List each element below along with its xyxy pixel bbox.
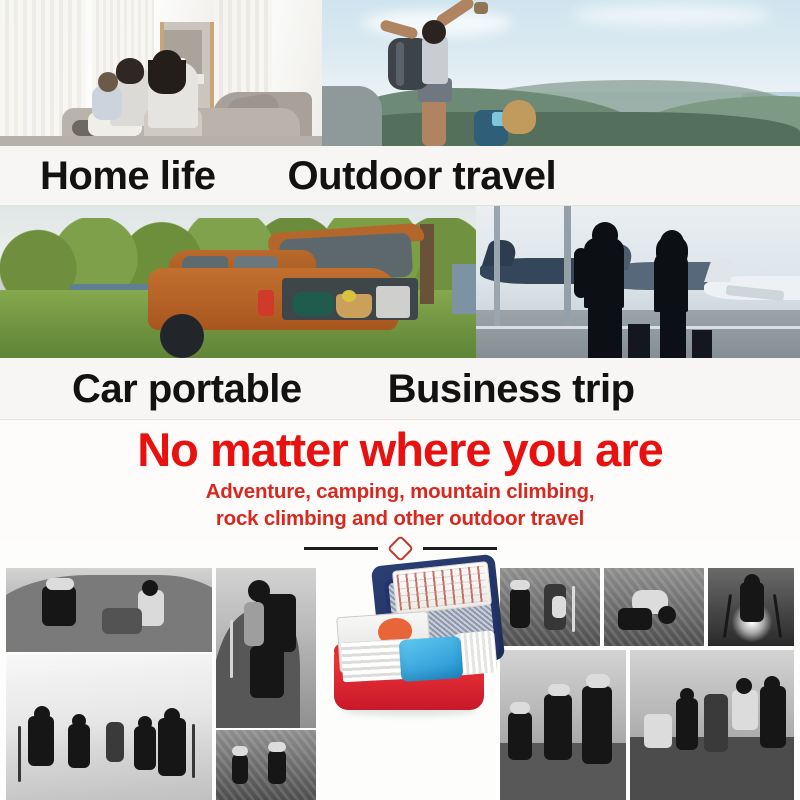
slogan-section: No matter where you are Adventure, campi… [0,420,800,540]
hiker-hand [474,2,488,14]
ski-pole [18,726,21,782]
hiker-standing [760,686,786,748]
businessman-head [592,222,618,248]
slogan-headline: No matter where you are [0,426,800,473]
collage-tile-trekkers-in-brush [216,730,316,800]
collage-tile-hiker-silhouette-summit [708,568,794,646]
hiker-head [764,676,780,692]
product-infographic-page: Home life Outdoor travel [0,0,800,800]
window-mullion [564,206,571,326]
section-divider [0,538,800,558]
climber [544,694,572,760]
category-label-car-portable: Car portable [72,369,302,409]
collage-tile-climbers-on-rock-face [6,568,212,652]
cloud [572,4,772,26]
kit-blue-case [399,636,464,682]
collage-tile-hikers-descending-trail [500,568,600,646]
trekker [268,750,286,784]
photo-car-portable [0,206,476,358]
climber-helmet [510,702,530,714]
skier-head [138,716,152,730]
hiker-head [736,678,752,694]
skier-body [106,722,124,762]
rock-outcrop [322,86,382,146]
climber [582,686,612,764]
hiker-seated [644,714,672,748]
father-head [116,58,144,84]
category-label-outdoor-travel: Outdoor travel [288,156,557,196]
photo-home-life [0,0,322,146]
green-bag [292,292,334,316]
climber-helmet [46,578,74,590]
trekker [232,754,248,784]
window-mullion [494,206,500,326]
hiker-head [422,20,446,44]
child-head [98,72,118,92]
rolling-suitcase [692,330,712,358]
collage-tile-roped-climbing-team-ridge [500,650,626,800]
lifestyle-row-1 [0,0,800,146]
trekker-hat [232,746,248,756]
hiker [510,588,530,628]
rear-wheel [160,314,204,358]
climber-helmet [586,674,610,688]
businesswoman-legs [660,306,686,358]
slogan-subtext: Adventure, camping, mountain climbing, r… [0,478,800,533]
collage-tile-ski-mountaineers-snow-slope [6,654,212,800]
cooler-box [376,286,410,318]
category-label-band-1: Home life Outdoor travel [0,146,800,206]
backpack-strap [396,42,404,86]
hiker-white-shirt [732,690,758,730]
hiker-torso [244,602,264,646]
gear-pack [102,608,142,634]
photo-business-trip [476,206,800,358]
climber-body [42,586,76,626]
category-label-home-life: Home life [40,156,216,196]
slogan-subtext-line-2: rock climbing and other outdoor travel [0,505,800,532]
skier-body [158,718,186,776]
category-label-band-2: Car portable Business trip [0,358,800,420]
climber-legs [618,608,652,630]
background-vehicle [452,264,476,314]
trekking-pole [230,620,233,678]
skier-body [68,724,90,768]
hiker-head [248,580,270,602]
lifestyle-row-2 [0,206,800,358]
businesswoman-head [660,230,684,256]
skier-head [164,708,180,724]
climber-head [658,606,676,624]
rolling-suitcase [628,324,650,358]
businessman-legs [588,304,622,358]
seated-hiker-head [502,100,536,134]
hiker-shirt [552,596,566,618]
foreground-hills [322,112,800,146]
trekker-hat [268,742,286,752]
hiker-head [680,688,694,702]
divider-bar-left [304,547,378,550]
ski-pole [192,724,195,778]
skier-body [28,716,54,766]
brush-terrain [216,730,316,800]
climber [508,712,532,760]
hiker-standing [704,694,728,752]
divider-bar-right [423,547,497,550]
tail-light [258,290,274,316]
floor [0,136,322,146]
collage-tile-group-of-hikers-resting [630,650,794,800]
collage-tile-hiker-with-trekking-pole [216,568,316,728]
hiker-standing [676,698,698,750]
skier-head [72,714,86,728]
skier-body [134,726,156,770]
skier-head [34,706,50,722]
mother-head [152,50,182,80]
slogan-subtext-line-1: Adventure, camping, mountain climbing, [206,480,595,503]
businessman-torso [584,238,624,308]
hiker-legs [422,98,446,146]
photo-outdoor-travel [322,0,800,146]
category-label-business-trip: Business trip [388,369,635,409]
climber-helmet [548,684,570,696]
hiker-legs [250,646,284,698]
trekking-pole [572,586,575,632]
product-first-aid-kit [316,556,502,730]
fruit [342,290,356,302]
climber-head [142,580,158,596]
hiker-hat [510,580,530,590]
hiker-head [744,574,760,590]
collage-tile-climber-scrambling-rocks [604,568,704,646]
